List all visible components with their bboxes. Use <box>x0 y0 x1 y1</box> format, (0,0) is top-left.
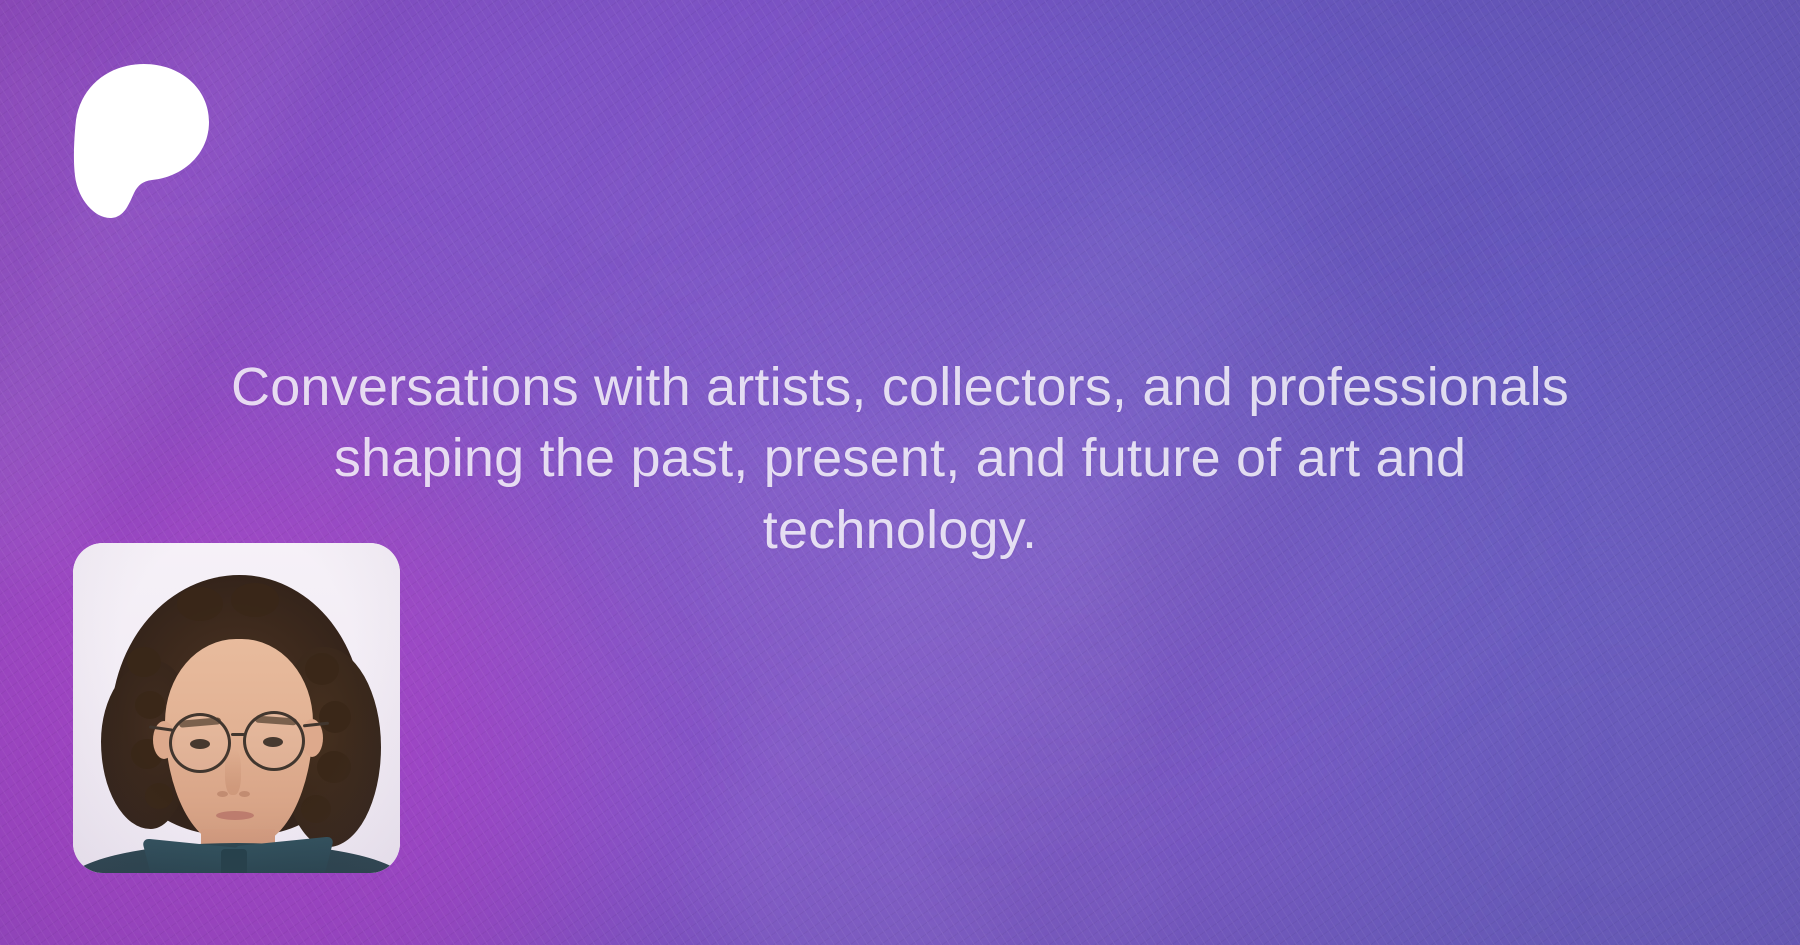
patreon-banner: Conversations with artists, collectors, … <box>0 0 1800 945</box>
avatar[interactable] <box>73 543 400 873</box>
avatar-portrait-image <box>73 543 400 873</box>
patreon-logo-icon[interactable] <box>72 62 212 220</box>
page-tagline: Conversations with artists, collectors, … <box>0 352 1800 566</box>
